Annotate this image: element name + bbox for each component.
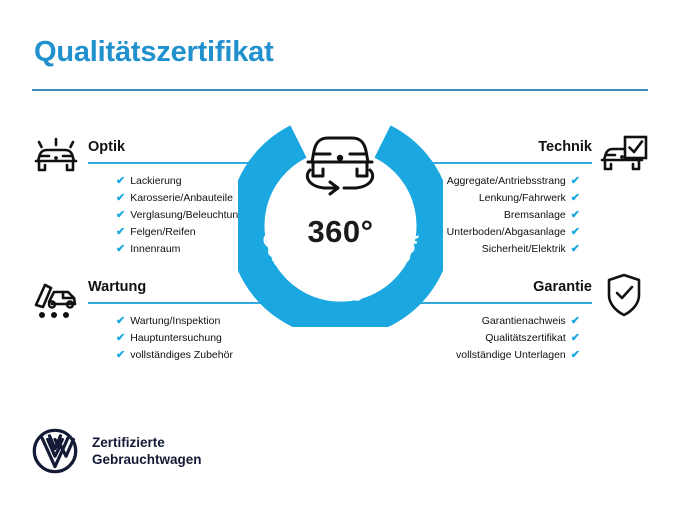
list-item-label: Aggregate/Antriebsstrang	[447, 175, 566, 187]
list-item: Qualitätszertifikat✔	[400, 330, 580, 347]
list-item-label: Felgen/Reifen	[130, 226, 195, 238]
footer-line-1: Zertifizierte	[92, 434, 202, 451]
list-item-label: Verglasung/Beleuchtung	[130, 209, 244, 221]
list-item-label: Unterboden/Abgasanlage	[447, 226, 566, 238]
car-shine-icon	[30, 134, 82, 183]
check-icon: ✔	[571, 209, 580, 221]
check-icon: ✔	[116, 349, 125, 361]
check-icon: ✔	[116, 175, 125, 187]
360-check-badge: Gebrauchtwagen-Check 360°	[238, 122, 443, 327]
check-icon: ✔	[571, 332, 580, 344]
footer-text: Zertifizierte Gebrauchtwagen	[92, 434, 202, 468]
car-checkbox-icon	[598, 134, 650, 183]
check-icon: ✔	[116, 243, 125, 255]
list-item-label: Sicherheit/Elektrik	[482, 243, 566, 255]
badge-degrees-label: 360°	[238, 214, 443, 250]
title-divider	[32, 89, 648, 91]
page-title: Qualitätszertifikat	[34, 36, 274, 69]
list-item: ✔vollständiges Zubehör	[116, 347, 280, 364]
check-icon: ✔	[116, 226, 125, 238]
list-item-label: Karosserie/Anbauteile	[130, 192, 233, 204]
list-item-label: vollständiges Zubehör	[130, 349, 233, 361]
check-icon: ✔	[116, 192, 125, 204]
check-icon: ✔	[571, 315, 580, 327]
car-lift-icon	[30, 276, 82, 325]
list-item-label: Lackierung	[130, 175, 181, 187]
list-item-label: Lenkung/Fahrwerk	[479, 192, 566, 204]
check-icon: ✔	[571, 243, 580, 255]
list-item: vollständige Unterlagen✔	[400, 347, 580, 364]
list-item-label: Garantienachweis	[482, 315, 566, 327]
check-icon: ✔	[571, 175, 580, 187]
list-item-label: Hauptuntersuchung	[130, 332, 222, 344]
check-icon: ✔	[116, 315, 125, 327]
footer-logo-block: Zertifizierte Gebrauchtwagen	[32, 428, 202, 474]
check-icon: ✔	[571, 349, 580, 361]
list-item: ✔Hauptuntersuchung	[116, 330, 280, 347]
check-icon: ✔	[116, 209, 125, 221]
vw-logo	[32, 428, 78, 474]
car-rotate-icon	[294, 126, 386, 196]
list-item-label: Wartung/Inspektion	[130, 315, 220, 327]
list-item-label: Innenraum	[130, 243, 180, 255]
check-icon: ✔	[571, 192, 580, 204]
check-icon: ✔	[571, 226, 580, 238]
shield-check-icon	[604, 272, 644, 323]
list-item-label: Qualitätszertifikat	[485, 332, 566, 344]
check-icon: ✔	[116, 332, 125, 344]
list-item-label: vollständige Unterlagen	[456, 349, 566, 361]
list-item-label: Bremsanlage	[504, 209, 566, 221]
footer-line-2: Gebrauchtwagen	[92, 451, 202, 468]
